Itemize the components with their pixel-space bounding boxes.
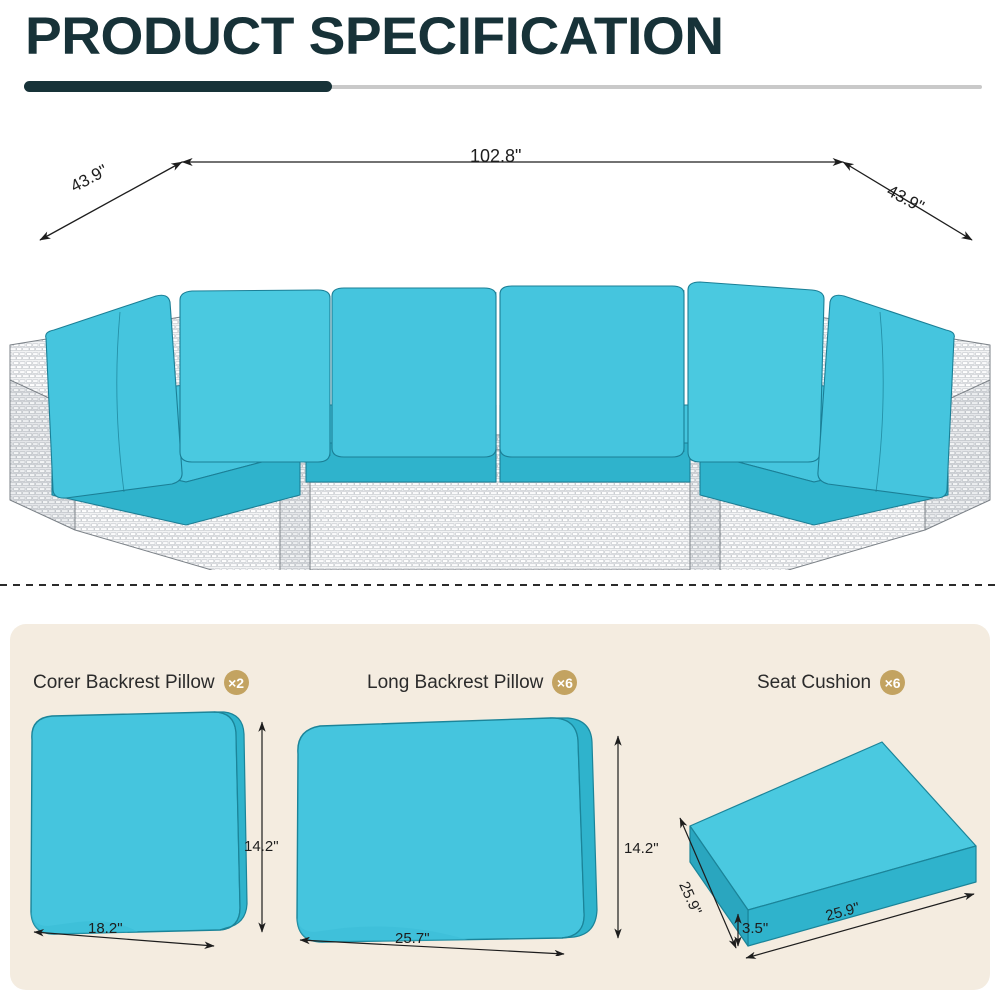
dimension-line-left-depth — [40, 162, 182, 240]
backrest-pillow-right-corner — [818, 295, 954, 498]
backrest-pillow-right-1 — [688, 282, 824, 462]
backrest-pillow-middle-2 — [500, 286, 684, 457]
long-pillow-body — [297, 718, 597, 942]
sofa-illustration: 102.8" 43.9" 43.9" — [0, 100, 1000, 570]
part-name-corner-backrest-pillow: Corer Backrest Pillow — [33, 672, 215, 694]
part-label-seat-cushion: Seat Cushion ×6 — [757, 670, 905, 695]
corner-pillow-width-label: 18.2" — [88, 920, 123, 937]
corner-pillow-body — [31, 712, 247, 934]
section-divider — [0, 584, 1000, 586]
dimension-lines — [40, 162, 972, 240]
part-qty-badge-corner-backrest-pillow: ×2 — [224, 670, 249, 695]
part-label-corner-backrest-pillow: Corer Backrest Pillow ×2 — [33, 670, 249, 695]
seat-cushion-thickness-label: 3.5" — [742, 920, 768, 937]
page-title: PRODUCT SPECIFICATION — [25, 8, 724, 66]
backrest-pillow-left-1 — [180, 290, 330, 462]
dimension-label-overall-width: 102.8" — [470, 146, 521, 167]
part-qty-badge-long-backrest-pillow: ×6 — [552, 670, 577, 695]
product-specification-page: PRODUCT SPECIFICATION — [0, 0, 1000, 1000]
part-name-seat-cushion: Seat Cushion — [757, 672, 871, 694]
title-underline-accent — [24, 81, 332, 92]
corner-backrest-pillow-illustration — [18, 706, 308, 956]
seat-cushion-illustration — [668, 736, 988, 966]
long-backrest-pillow-illustration — [288, 716, 658, 956]
backrest-pillow-left-corner — [46, 295, 182, 498]
part-qty-badge-seat-cushion: ×6 — [880, 670, 905, 695]
long-pillow-height-label: 14.2" — [624, 840, 659, 857]
sofa-diagram-svg — [0, 100, 1000, 570]
backrest-pillow-middle-1 — [332, 288, 496, 457]
page-header: PRODUCT SPECIFICATION — [0, 0, 1000, 100]
part-name-long-backrest-pillow: Long Backrest Pillow — [367, 672, 543, 694]
corner-pillow-height-label: 14.2" — [244, 838, 279, 855]
part-label-long-backrest-pillow: Long Backrest Pillow ×6 — [367, 670, 577, 695]
long-pillow-width-label: 25.7" — [395, 930, 430, 947]
